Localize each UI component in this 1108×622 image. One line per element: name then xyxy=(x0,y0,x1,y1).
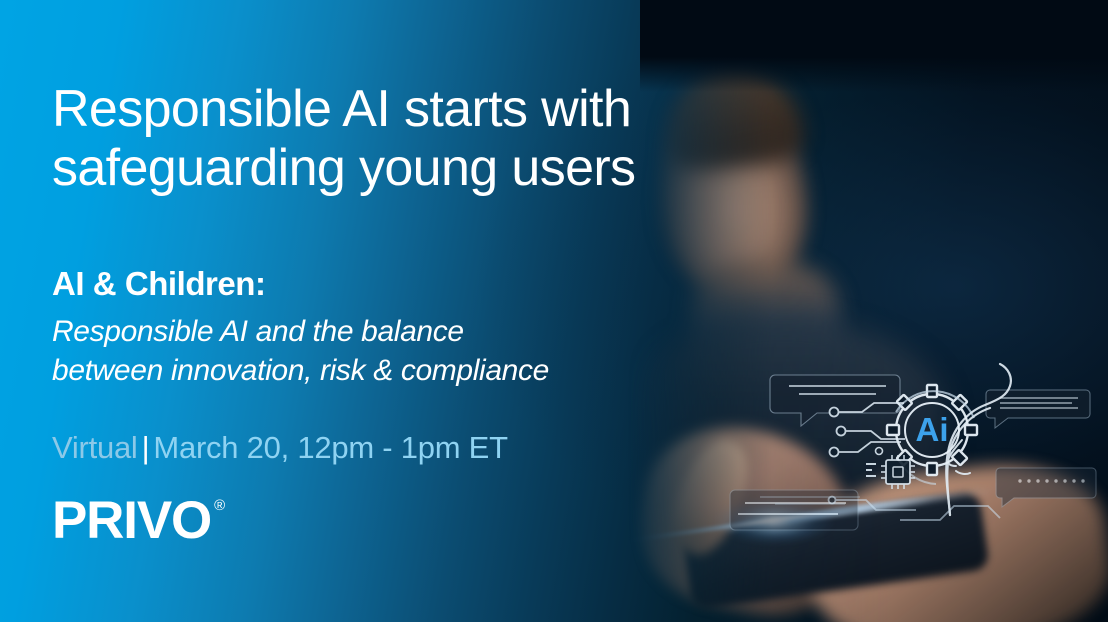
privo-wordmark: PRIVO xyxy=(52,494,211,547)
page-title: Responsible AI starts with safeguarding … xyxy=(52,80,792,198)
subtitle-title: AI & Children: xyxy=(52,266,792,303)
event-datetime: March 20, 12pm - 1pm ET xyxy=(153,430,507,465)
subtitle-block: AI & Children: Responsible AI and the ba… xyxy=(52,266,792,390)
event-venue: Virtual xyxy=(52,430,138,465)
text-content: Responsible AI starts with safeguarding … xyxy=(52,0,812,622)
headline-line-1: Responsible AI starts with xyxy=(52,80,792,139)
subtitle-description: Responsible AI and the balance between i… xyxy=(52,312,792,390)
registered-trademark-icon: ® xyxy=(214,498,225,513)
subtitle-desc-line-1: Responsible AI and the balance xyxy=(52,312,792,351)
event-details: Virtual|March 20, 12pm - 1pm ET xyxy=(52,430,508,466)
privo-logo: PRIVO ® xyxy=(52,494,225,547)
subtitle-desc-line-2: between innovation, risk & compliance xyxy=(52,351,792,390)
event-separator: | xyxy=(138,430,154,465)
webinar-promo-banner: Ai xyxy=(0,0,1108,622)
headline-line-2: safeguarding young users xyxy=(52,139,792,198)
